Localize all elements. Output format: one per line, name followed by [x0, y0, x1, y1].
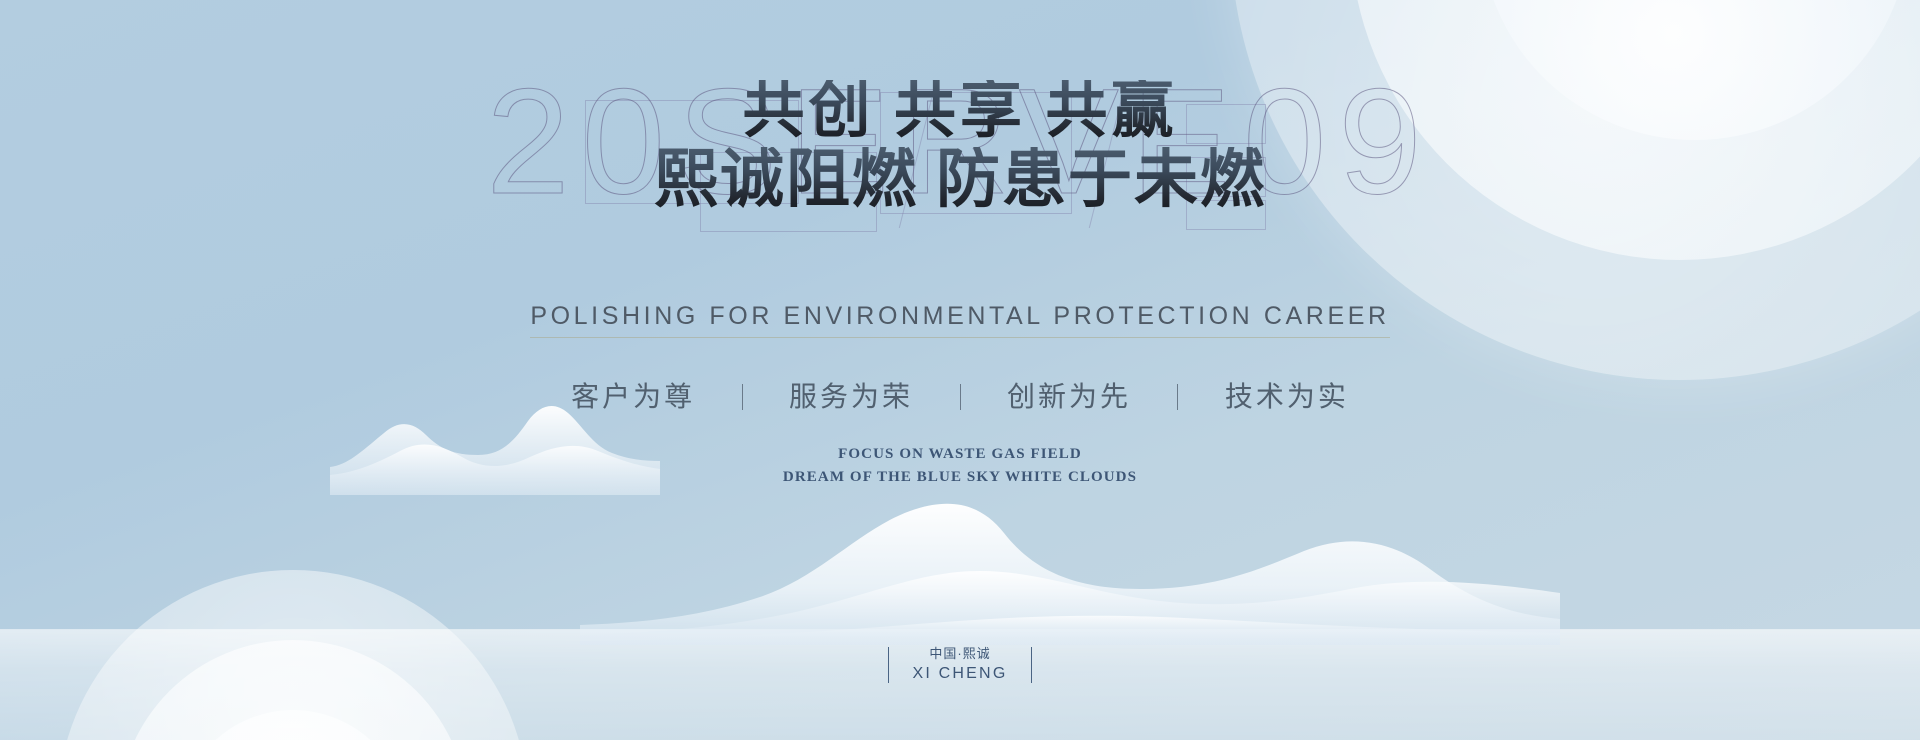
subtitle-block: POLISHING FOR ENVIRONMENTAL PROTECTION C…: [0, 302, 1920, 338]
slogan-divider: [1177, 384, 1178, 410]
brand-logo: 中国·熙诚 XI CHENG: [0, 645, 1920, 688]
logo-bar-right: [1031, 647, 1032, 683]
motto-line-1: FOCUS ON WASTE GAS FIELD: [0, 443, 1920, 466]
logo-text-block: 中国·熙诚 XI CHENG: [913, 645, 1008, 684]
slogan-item-4: 技术为实: [1225, 375, 1349, 415]
headline-line-2: 熙诚阻燃 防患于未燃: [0, 147, 1920, 212]
logo-bar-left: [888, 647, 889, 683]
logo-english-name: XI CHENG: [913, 663, 1008, 685]
slogan-row: 客户为尊 服务为荣 创新为先 技术为实: [0, 375, 1920, 415]
subtitle-text: POLISHING FOR ENVIRONMENTAL PROTECTION C…: [530, 302, 1389, 338]
slogan-item-3: 创新为先: [1007, 375, 1131, 415]
promotional-banner: 20SERVE09 共创 共享 共赢 熙诚阻燃 防患于未燃 POLISHING …: [0, 0, 1920, 740]
logo-chinese-name: 中国·熙诚: [913, 645, 1008, 663]
cloud-mountain-right-icon: [580, 485, 1560, 645]
headline-line-1: 共创 共享 共赢: [0, 80, 1920, 143]
slogan-item-1: 客户为尊: [571, 375, 695, 415]
headline-block: 共创 共享 共赢 熙诚阻燃 防患于未燃: [0, 80, 1920, 213]
slogan-divider: [960, 384, 961, 410]
slogan-item-2: 服务为荣: [789, 375, 913, 415]
motto-block: FOCUS ON WASTE GAS FIELD DREAM OF THE BL…: [0, 443, 1920, 488]
slogan-divider: [742, 384, 743, 410]
motto-line-2: DREAM OF THE BLUE SKY WHITE CLOUDS: [0, 466, 1920, 489]
